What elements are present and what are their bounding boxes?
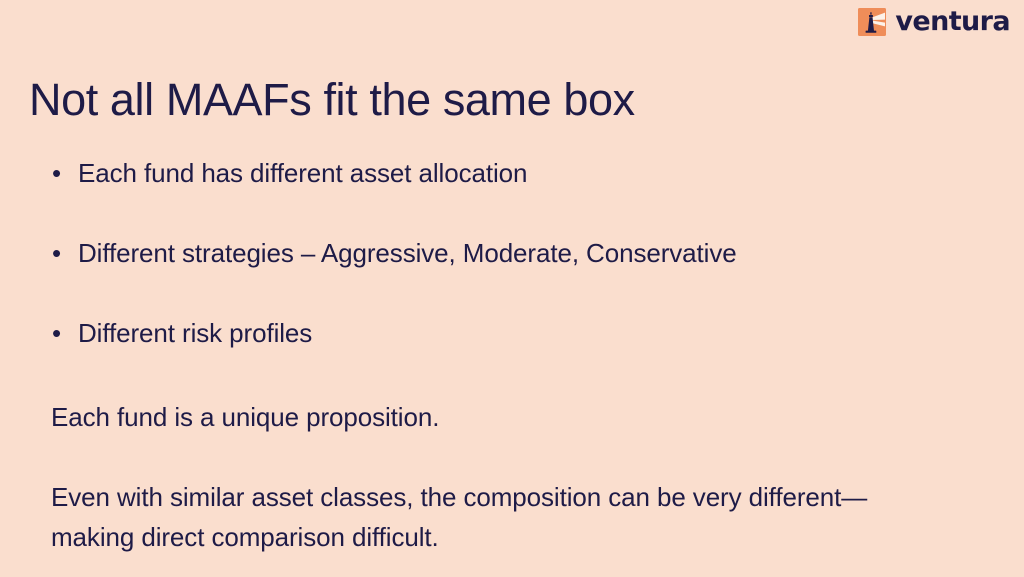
brand-logo: ventura	[858, 8, 1010, 36]
list-item: • Different strategies – Aggressive, Mod…	[52, 235, 737, 315]
bullet-text: Different risk profiles	[78, 315, 312, 351]
bullet-marker-icon: •	[52, 235, 78, 271]
summary-paragraph-secondary: Even with similar asset classes, the com…	[51, 477, 931, 557]
list-item: • Each fund has different asset allocati…	[52, 155, 737, 235]
lighthouse-icon	[858, 8, 886, 36]
bullet-marker-icon: •	[52, 155, 78, 191]
slide-title: Not all MAAFs fit the same box	[29, 72, 635, 128]
bullet-marker-icon: •	[52, 315, 78, 351]
brand-wordmark: ventura	[895, 8, 1010, 36]
bullet-text: Different strategies – Aggressive, Moder…	[78, 235, 737, 271]
bullet-text: Each fund has different asset allocation	[78, 155, 527, 191]
presentation-slide: ventura Not all MAAFs fit the same box •…	[0, 0, 1024, 577]
bullet-list: • Each fund has different asset allocati…	[52, 155, 737, 395]
summary-paragraph-primary: Each fund is a unique proposition.	[51, 397, 439, 437]
list-item: • Different risk profiles	[52, 315, 737, 395]
